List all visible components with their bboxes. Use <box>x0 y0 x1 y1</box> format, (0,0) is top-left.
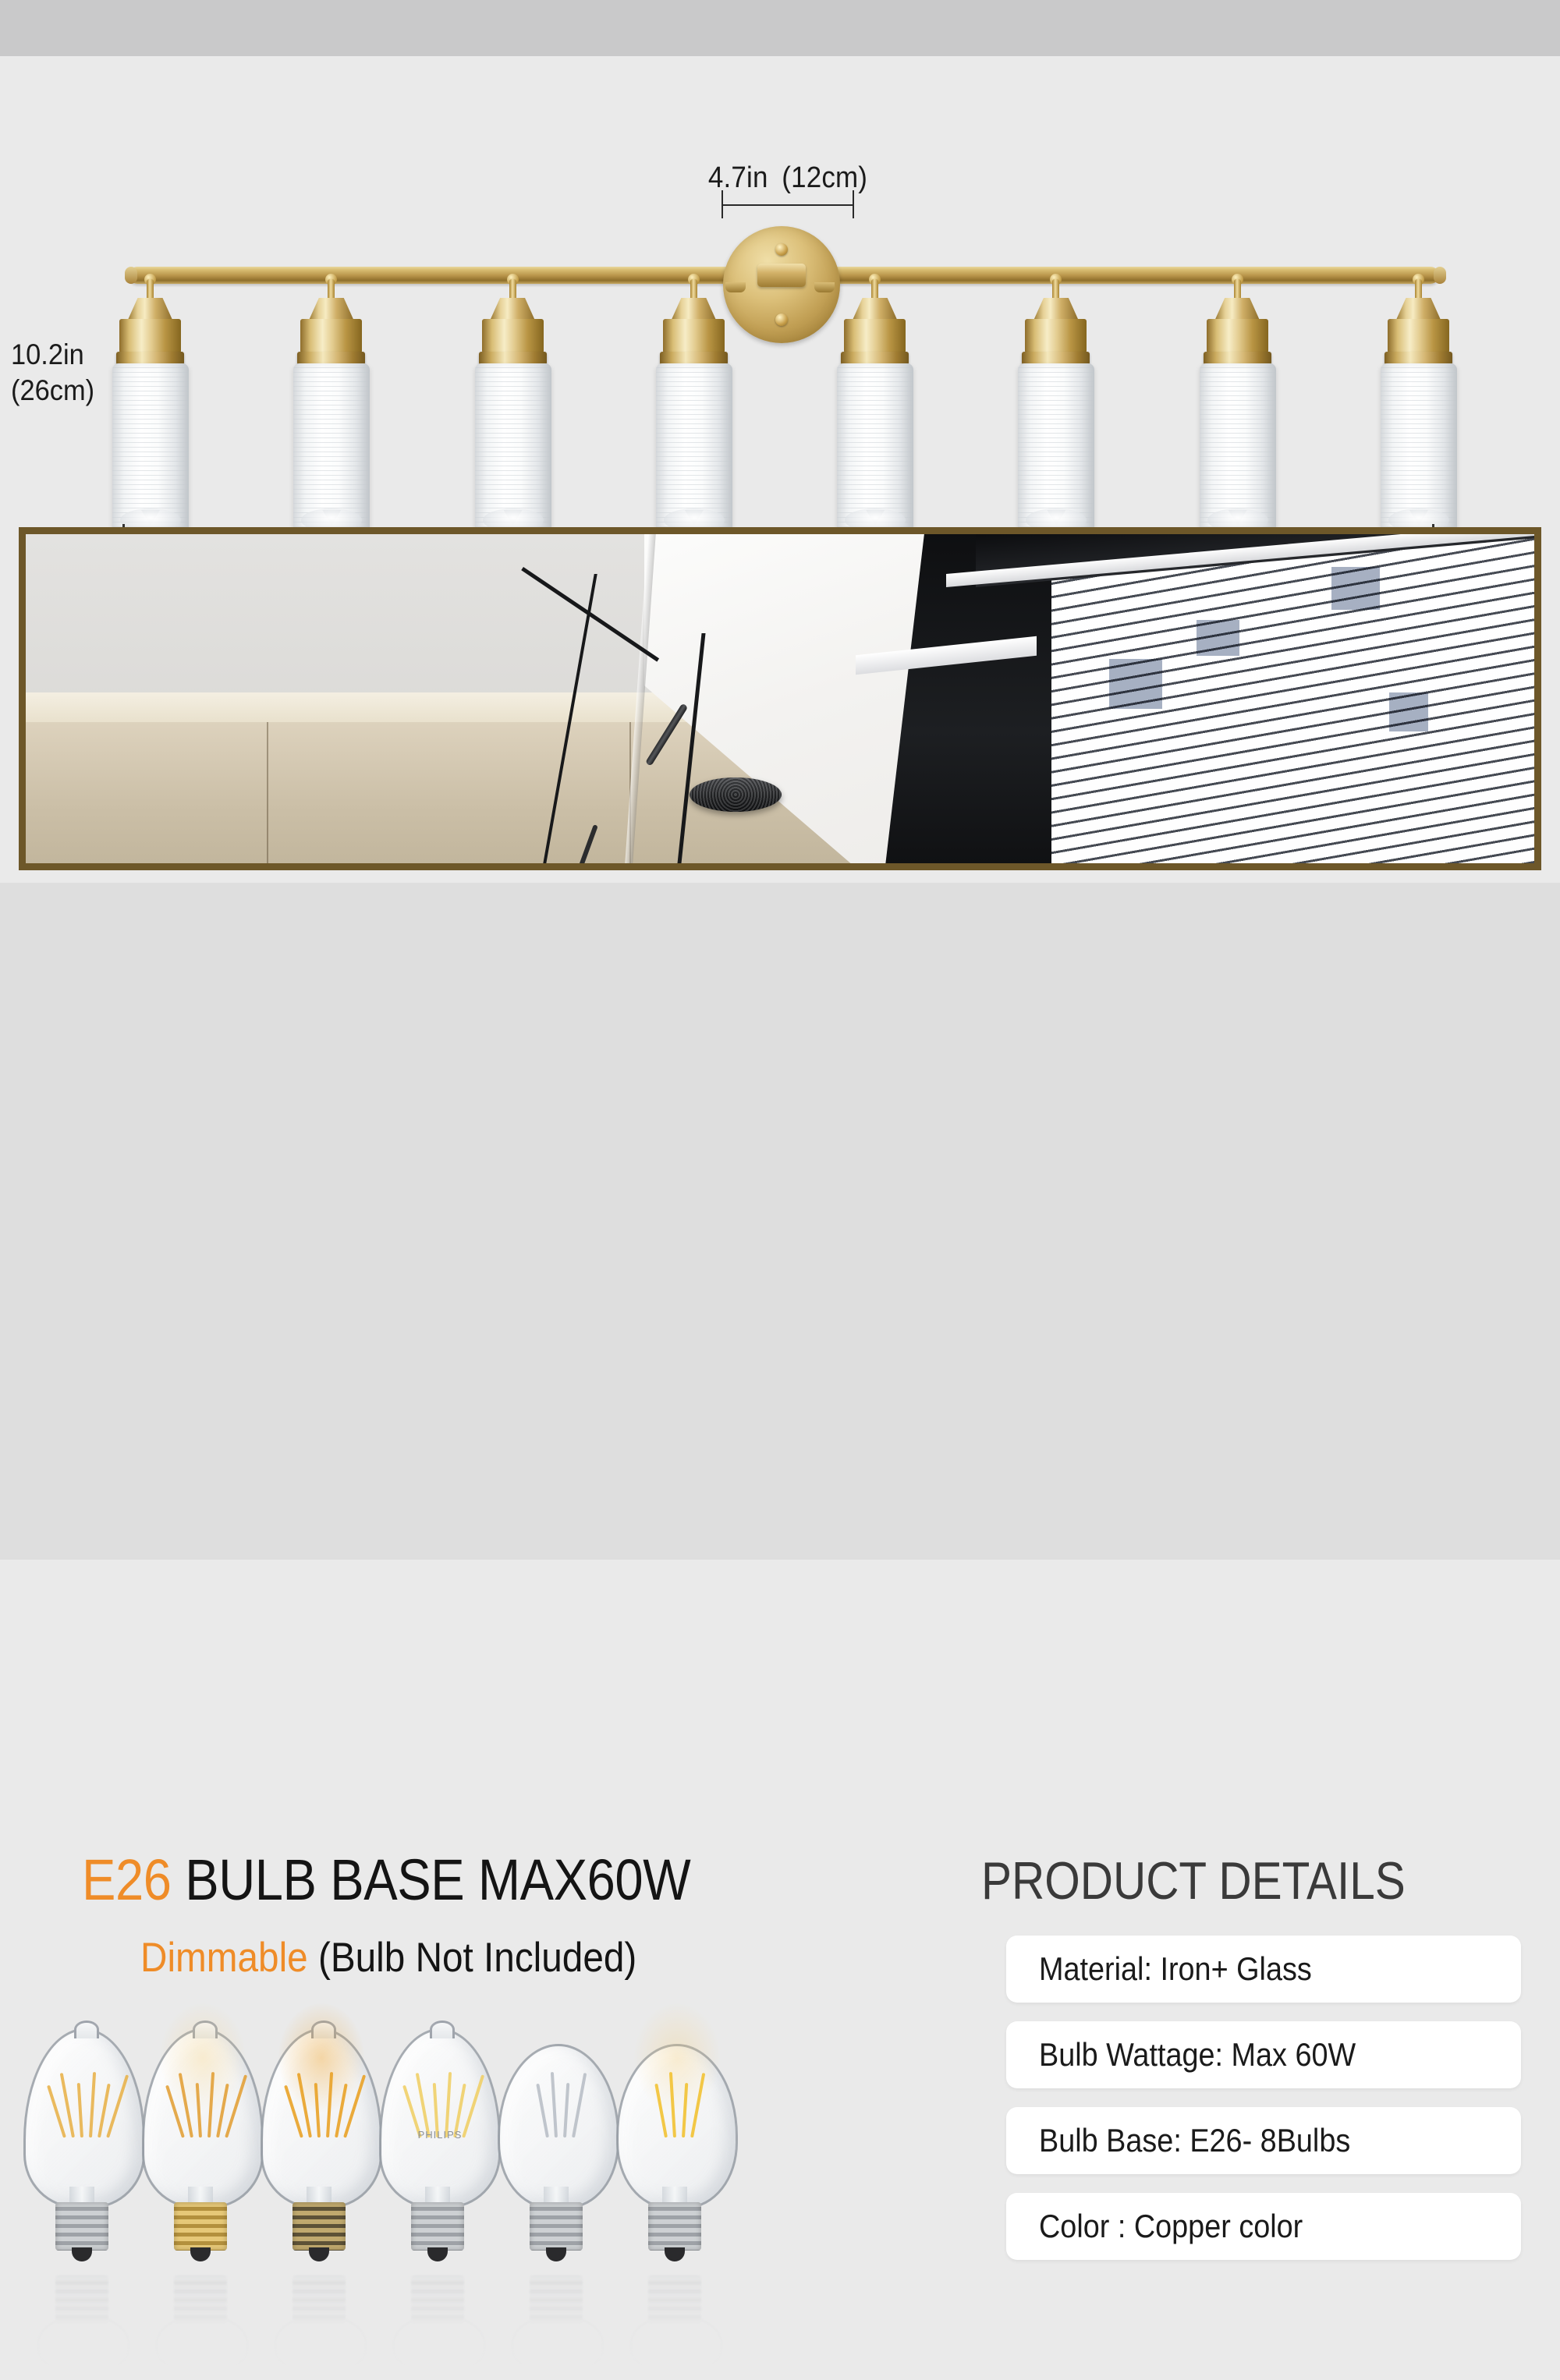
socket-body <box>1388 319 1449 353</box>
bulb-glass-envelope <box>261 2028 382 2208</box>
bulb-screw-base <box>530 2202 583 2251</box>
bulb-base-tip <box>427 2247 448 2261</box>
bulb-base-tip <box>665 2247 685 2261</box>
backplate-screw-top <box>775 243 788 256</box>
socket-cone <box>1396 298 1441 320</box>
lamp-stem <box>147 279 154 299</box>
lamp-stem <box>1052 279 1059 299</box>
bulb-glass-envelope: PHILIPS <box>379 2028 501 2208</box>
shade-inner-reflection <box>1047 510 1065 526</box>
bulb-illustration: PHILIPS <box>379 2037 496 2372</box>
glass-shade <box>1381 363 1457 537</box>
lamp-stem <box>328 279 335 299</box>
photo-window-pane <box>1331 567 1380 610</box>
bulb-reflection <box>142 2263 259 2372</box>
shade-inner-reflection <box>685 510 704 526</box>
bulb-illustration <box>498 2037 615 2372</box>
lifestyle-photo-frame <box>19 527 1541 870</box>
reflection-base <box>648 2276 701 2324</box>
filament-strand <box>89 2072 96 2137</box>
backplate-center-sleeve <box>757 264 806 287</box>
socket-body <box>300 319 362 353</box>
socket-body <box>482 319 544 353</box>
product-detail-text: Bulb Wattage: Max 60W <box>1039 2036 1356 2074</box>
bulb-glass-envelope <box>23 2028 145 2208</box>
socket-cone <box>491 298 535 320</box>
photo-window-blinds <box>1051 534 1534 863</box>
socket-body <box>663 319 725 353</box>
bulb-illustration <box>23 2037 140 2372</box>
bulb-base-tip <box>309 2247 329 2261</box>
photo-window-pane <box>1109 659 1162 708</box>
product-detail-pill: Material: Iron+ Glass <box>1006 1936 1521 2003</box>
lamp-stem <box>1415 279 1422 299</box>
filament-strand <box>445 2072 452 2137</box>
subline-rest-text: (Bulb Not Included) <box>308 1935 637 1981</box>
bulb-reflection <box>379 2263 496 2372</box>
glass-shade <box>293 363 370 537</box>
bulb-illustration <box>142 2037 259 2372</box>
bulb-screw-base <box>55 2202 108 2251</box>
bulb-screw-base <box>648 2202 701 2251</box>
crossbar-end-cap-left <box>125 267 137 284</box>
backplate-nub-right <box>814 282 835 292</box>
product-detail-pill: Bulb Wattage: Max 60W <box>1006 2021 1521 2088</box>
filament-strand <box>563 2083 569 2137</box>
socket-cone <box>1215 298 1260 320</box>
filament-strand <box>76 2083 83 2137</box>
filament-strand <box>550 2072 557 2137</box>
socket-body <box>1025 319 1087 353</box>
glass-shade <box>475 363 551 537</box>
glass-shade <box>656 363 732 537</box>
photo-window-pane <box>1197 620 1240 656</box>
top-gray-band <box>0 0 1560 56</box>
squirrel-cage-edison-bulb <box>261 2029 378 2255</box>
bulb-glass-envelope <box>498 2044 619 2208</box>
photo-window-pane <box>1389 692 1428 732</box>
bulb-and-details-section: E26 BULB BASE MAX60W Dimmable (Bulb Not … <box>0 883 1560 1560</box>
bulb-base-tip <box>190 2247 211 2261</box>
bulb-glow <box>634 2003 720 2113</box>
product-detail-text: Material: Iron+ Glass <box>1039 1950 1312 1988</box>
rain-shower-head-icon <box>690 777 782 812</box>
shade-inner-reflection <box>504 510 523 526</box>
lamp-stem <box>1234 279 1241 299</box>
vintage-cage-filament-bulb <box>142 2029 259 2255</box>
bulb-reflection <box>498 2263 615 2372</box>
product-detail-pill: Color : Copper color <box>1006 2193 1521 2260</box>
socket-cone <box>309 298 353 320</box>
shade-inner-reflection <box>1409 510 1428 526</box>
shade-inner-reflection <box>1228 510 1247 526</box>
philips-led-filament-bulb: PHILIPS <box>379 2029 496 2255</box>
bulb-brand-label: PHILIPS <box>418 2129 463 2141</box>
reflection-base <box>55 2276 108 2324</box>
bulb-reflection <box>616 2263 733 2372</box>
vanity-light-fixture <box>0 56 1560 540</box>
bulb-glass-envelope <box>142 2028 264 2208</box>
socket-cone <box>853 298 897 320</box>
product-detail-text: Color : Copper color <box>1039 2208 1303 2245</box>
photo-cabinet-seam <box>267 722 268 863</box>
halogen-a-shape-bulb <box>498 2029 615 2255</box>
shade-inner-reflection <box>141 510 160 526</box>
filament-strand <box>572 2073 587 2137</box>
glass-shade <box>1018 363 1094 537</box>
socket-cone <box>672 298 716 320</box>
lamp-stem <box>509 279 516 299</box>
backplate-nub-left <box>725 282 746 292</box>
product-detail-pill: Bulb Base: E26- 8Bulbs <box>1006 2107 1521 2174</box>
bulb-glass-envelope <box>616 2044 738 2208</box>
bulb-base-tip <box>546 2247 566 2261</box>
bulb-screw-base <box>292 2202 346 2251</box>
reflection-base <box>530 2276 583 2324</box>
bulb-base-headline: E26 BULB BASE MAX60W <box>82 1850 690 1911</box>
headline-rest-text: BULB BASE MAX60W <box>172 1847 691 1912</box>
bulb-illustration <box>616 2037 733 2372</box>
dimmable-subheadline: Dimmable (Bulb Not Included) <box>140 1935 636 1982</box>
socket-cone <box>1033 298 1078 320</box>
bulb-glow <box>160 2003 246 2113</box>
subline-accent-text: Dimmable <box>140 1935 308 1981</box>
bulb-base-tip <box>72 2247 92 2261</box>
socket-body <box>844 319 906 353</box>
glass-shade <box>1200 363 1276 537</box>
lamp-stem <box>871 279 878 299</box>
led-filament-a-shape-bulb <box>616 2029 733 2255</box>
bulb-reflection <box>261 2263 378 2372</box>
headline-accent-text: E26 <box>82 1847 172 1912</box>
bulb-screw-base <box>174 2202 227 2251</box>
shade-inner-reflection <box>322 510 341 526</box>
bulb-illustration <box>261 2037 378 2372</box>
bulb-glow <box>278 2003 364 2113</box>
glass-shade <box>112 363 189 537</box>
lamp-stem <box>690 279 697 299</box>
socket-cone <box>128 298 172 320</box>
filament-strand <box>536 2084 549 2138</box>
product-listing-page: 4.7in (12cm) 10.2in (26cm) 52in (132cm) <box>0 0 1560 1560</box>
compatible-bulbs-row: PHILIPS <box>23 2037 749 2380</box>
shade-inner-reflection <box>866 510 885 526</box>
product-details-title: PRODUCT DETAILS <box>981 1853 1406 1909</box>
bathroom-interior-photo <box>26 534 1534 863</box>
glass-shade <box>837 363 913 537</box>
socket-body <box>119 319 181 353</box>
reflection-base <box>292 2276 346 2324</box>
crossbar-end-cap-right <box>1434 267 1446 284</box>
bulb-reflection <box>23 2263 140 2372</box>
reflection-base <box>174 2276 227 2324</box>
reflection-base <box>411 2276 464 2324</box>
bulb-screw-base <box>411 2202 464 2251</box>
product-details-list: Material: Iron+ GlassBulb Wattage: Max 6… <box>1006 1936 1521 2279</box>
backplate-screw-bottom <box>775 313 788 326</box>
product-detail-text: Bulb Base: E26- 8Bulbs <box>1039 2122 1350 2159</box>
led-filament-edison-bulb <box>23 2029 140 2255</box>
socket-body <box>1207 319 1268 353</box>
